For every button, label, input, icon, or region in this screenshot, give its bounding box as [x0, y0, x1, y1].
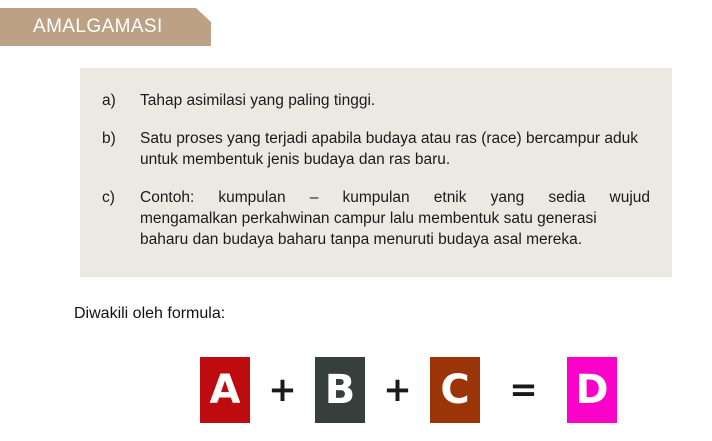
formula-box-c: C — [430, 357, 480, 423]
formula-operator-plus-1: + — [250, 373, 315, 407]
formula-box-c-label: C — [440, 370, 469, 410]
page-title: AMALGAMASI — [33, 16, 163, 38]
list-item: b) Satu proses yang terjadi apabila buda… — [102, 128, 650, 170]
formula-operator-equals: = — [480, 373, 567, 407]
formula-caption: Diwakili oleh formula: — [74, 305, 225, 323]
formula-box-b-label: B — [325, 370, 356, 410]
slide-title-banner: AMALGAMASI — [0, 8, 211, 46]
list-item-marker: b) — [102, 128, 140, 149]
list-item-text: Satu proses yang terjadi apabila budaya … — [140, 128, 650, 170]
list-item-line: mengamalkan perkahwinan campur lalu memb… — [140, 208, 650, 229]
formula-box-a: A — [200, 357, 250, 423]
list-item-line: Contoh: kumpulan – kumpulan etnik yang s… — [140, 187, 650, 208]
content-panel: a) Tahap asimilasi yang paling tinggi. b… — [80, 68, 672, 277]
list-item-marker: c) — [102, 187, 140, 208]
formula-box-d: D — [567, 357, 617, 423]
list-item: a) Tahap asimilasi yang paling tinggi. — [102, 90, 650, 111]
formula-box-b: B — [315, 357, 365, 423]
list-item-line: baharu dan budaya baharu tanpa menuruti … — [140, 229, 650, 250]
list-item: c) Contoh: kumpulan – kumpulan etnik yan… — [102, 187, 650, 250]
list-item-marker: a) — [102, 90, 140, 111]
formula-row: A + B + C = D — [200, 357, 617, 423]
formula-box-d-label: D — [575, 370, 608, 410]
formula-box-a-label: A — [210, 370, 241, 410]
list-item-text: Tahap asimilasi yang paling tinggi. — [140, 90, 650, 111]
list-item-line: Satu proses yang terjadi apabila budaya … — [140, 130, 600, 147]
formula-operator-plus-2: + — [365, 373, 430, 407]
list-item-text: Contoh: kumpulan – kumpulan etnik yang s… — [140, 187, 650, 250]
